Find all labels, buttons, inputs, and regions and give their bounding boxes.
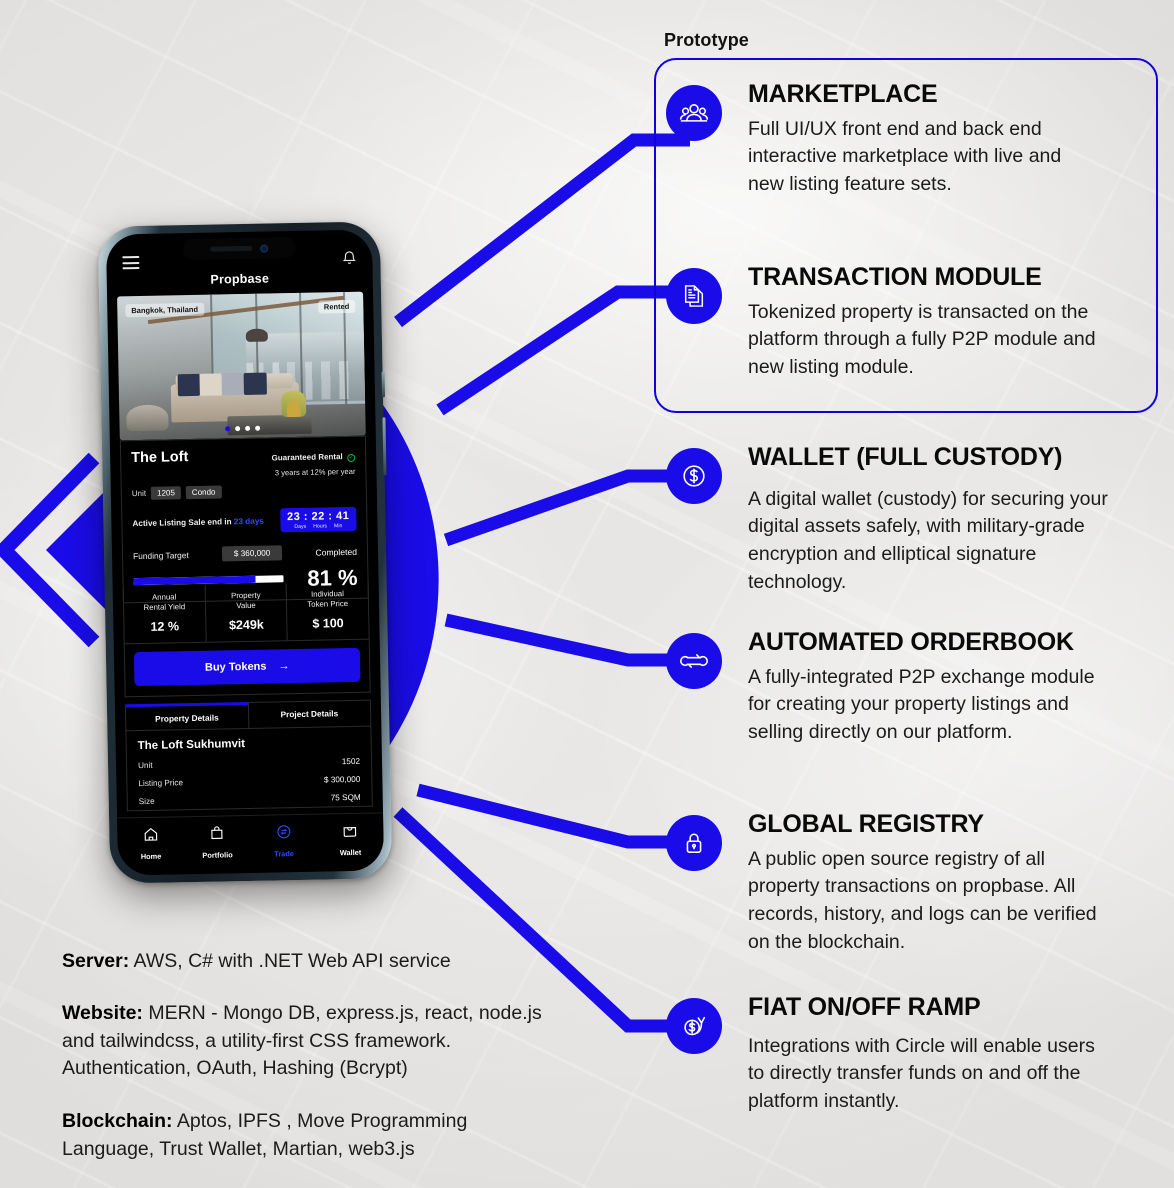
stack-server-value: AWS, C# with .NET Web API service — [129, 950, 451, 972]
property-stats-row: AnnualRental Yield 12 % PropertyValue $2… — [123, 582, 370, 645]
verified-check-icon: ✓ — [347, 454, 355, 462]
feature-desc: Tokenized property is transacted on the … — [748, 299, 1116, 382]
bottom-navigation[interactable]: Home Portfolio Trade — [117, 812, 384, 875]
feature-desc: A digital wallet (custody) for securing … — [748, 486, 1130, 597]
countdown-value: 23 : 22 : 41 — [287, 510, 349, 523]
trade-icon — [275, 823, 292, 840]
exchange-arrows-icon — [666, 633, 722, 689]
detail-label: Size — [139, 797, 155, 806]
listing-name: The Loft — [131, 449, 188, 466]
arrow-right-icon: → — [278, 660, 289, 672]
stat-label-line1: Property — [231, 591, 261, 601]
stack-website-label: Website: — [62, 1002, 143, 1024]
bell-icon[interactable] — [342, 250, 356, 266]
property-hero-image[interactable]: Bangkok, Thailand Rented — [117, 292, 366, 441]
stat-label-line1: Individual — [311, 589, 344, 599]
carousel-dots[interactable] — [225, 426, 260, 432]
pillow — [178, 374, 201, 396]
stat-value: $249k — [208, 617, 285, 632]
prototype-label: Prototype — [664, 30, 749, 51]
nav-item-wallet[interactable]: Wallet — [317, 821, 384, 857]
stat-value: 12 % — [126, 619, 203, 634]
stack-server: Server: AWS, C# with .NET Web API servic… — [62, 948, 602, 976]
infographic-canvas: Prototype MARKETPLACE Full UI/UX front e… — [0, 0, 1174, 1188]
people-icon — [666, 85, 722, 141]
detail-row: Unit 1502 — [138, 757, 360, 770]
countdown-unit-min: Min — [334, 523, 342, 529]
stack-blockchain-label: Blockchain: — [62, 1110, 173, 1132]
documents-icon — [666, 268, 722, 324]
phone-screen: Propbase Bangkok, Thaila — [106, 230, 384, 876]
stack-website: Website: MERN - Mongo DB, express.js, re… — [62, 1000, 562, 1083]
dollar-circle-icon — [666, 448, 722, 504]
nav-label: Wallet — [317, 847, 384, 857]
lock-icon — [666, 815, 722, 871]
stat-annual-rental-yield: AnnualRental Yield 12 % — [124, 585, 207, 643]
detail-row: Size 75 SQM — [139, 793, 361, 806]
dollar-arrow-icon — [666, 998, 722, 1054]
bag-icon — [208, 824, 225, 841]
phone-mockup: Propbase Bangkok, Thaila — [98, 221, 393, 883]
funding-target-value: $ 360,000 — [222, 545, 283, 561]
feature-desc: Integrations with Circle will enable use… — [748, 1033, 1096, 1116]
carousel-dot[interactable] — [255, 426, 260, 431]
feature-title: MARKETPLACE — [748, 81, 1100, 109]
location-chip: Bangkok, Thailand — [125, 303, 204, 318]
property-details-panel: The Loft Sukhumvit Unit 1502 Listing Pri… — [125, 726, 373, 812]
pillow — [200, 374, 223, 396]
earpiece-speaker — [210, 246, 252, 252]
buy-tokens-label: Buy Tokens — [205, 661, 267, 674]
nav-item-home[interactable]: Home — [117, 825, 184, 861]
nav-label: Home — [118, 851, 185, 861]
pillow — [244, 373, 267, 395]
floor-lamp — [246, 328, 268, 341]
feature-desc: A fully-integrated P2P exchange module f… — [748, 664, 1110, 747]
unit-label: Unit — [132, 489, 146, 498]
stat-label-line2: Token Price — [307, 599, 348, 609]
listing-summary-card: The Loft Guaranteed Rental ✓ 3 years at … — [120, 436, 369, 603]
details-heading: The Loft Sukhumvit — [138, 736, 360, 752]
feature-title: WALLET (FULL CUSTODY) — [748, 444, 1130, 472]
detail-value: $ 300,000 — [324, 775, 361, 785]
active-listing-days: 23 days — [234, 516, 264, 526]
carousel-dot[interactable] — [225, 426, 230, 431]
feature-desc: Full UI/UX front end and back end intera… — [748, 116, 1100, 199]
guaranteed-rental-label: Guaranteed Rental — [272, 452, 343, 462]
countdown-timer: 23 : 22 : 41 Days Hours Min — [280, 507, 357, 532]
feature-title: FIAT ON/OFF RAMP — [748, 994, 1096, 1022]
countdown-unit-hours: Hours — [313, 523, 327, 529]
completed-label: Completed — [315, 546, 357, 557]
home-icon — [142, 826, 159, 843]
stat-label-line1: Annual — [152, 592, 176, 601]
detail-label: Unit — [138, 761, 153, 770]
funding-target-label: Funding Target — [133, 550, 189, 561]
nav-label: Trade — [251, 849, 318, 859]
nav-item-portfolio[interactable]: Portfolio — [184, 824, 251, 860]
stack-server-label: Server: — [62, 950, 129, 972]
buy-tokens-button[interactable]: Buy Tokens → — [134, 648, 361, 686]
plant — [281, 391, 306, 417]
detail-value: 75 SQM — [331, 793, 361, 803]
stat-label-line2: Rental Yield — [143, 602, 185, 612]
carousel-dot[interactable] — [235, 426, 240, 431]
feature-title: GLOBAL REGISTRY — [748, 811, 1120, 839]
nav-label: Portfolio — [184, 850, 251, 860]
pillow — [222, 373, 245, 395]
wallet-icon — [341, 822, 358, 839]
detail-label: Listing Price — [138, 778, 183, 788]
carousel-dot[interactable] — [245, 426, 250, 431]
stat-individual-token-price: IndividualToken Price $ 100 — [287, 582, 369, 640]
status-badge: Rented — [318, 300, 356, 314]
active-listing-text: Active Listing Sale end in 23 days — [132, 516, 264, 528]
stat-value: $ 100 — [290, 616, 367, 631]
tab-property-details[interactable]: Property Details — [125, 702, 249, 731]
stat-property-value: PropertyValue $249k — [205, 583, 288, 641]
phone-power-button[interactable] — [382, 371, 385, 397]
phone-notch — [183, 237, 295, 260]
detail-row: Listing Price $ 300,000 — [138, 775, 360, 788]
app-title: Propbase — [107, 269, 373, 288]
feature-title: TRANSACTION MODULE — [748, 264, 1116, 292]
detail-value: 1502 — [342, 757, 360, 766]
countdown-unit-days: Days — [294, 524, 306, 530]
guaranteed-rental-terms: 3 years at 12% per year — [272, 467, 356, 478]
buy-section: Buy Tokens → — [124, 640, 371, 698]
stack-blockchain: Blockchain: Aptos, IPFS , Move Programmi… — [62, 1108, 532, 1163]
feature-desc: A public open source registry of all pro… — [748, 846, 1120, 957]
unit-number: 1205 — [151, 486, 181, 500]
stat-label-line2: Value — [236, 601, 256, 610]
nav-item-trade[interactable]: Trade — [250, 823, 317, 859]
stool — [127, 405, 169, 432]
menu-icon[interactable] — [122, 256, 139, 273]
feature-title: AUTOMATED ORDERBOOK — [748, 629, 1110, 657]
tab-project-details[interactable]: Project Details — [248, 700, 371, 729]
front-camera — [260, 244, 268, 252]
property-type: Condo — [186, 485, 222, 499]
active-listing-prefix: Active Listing Sale end in — [132, 517, 234, 528]
